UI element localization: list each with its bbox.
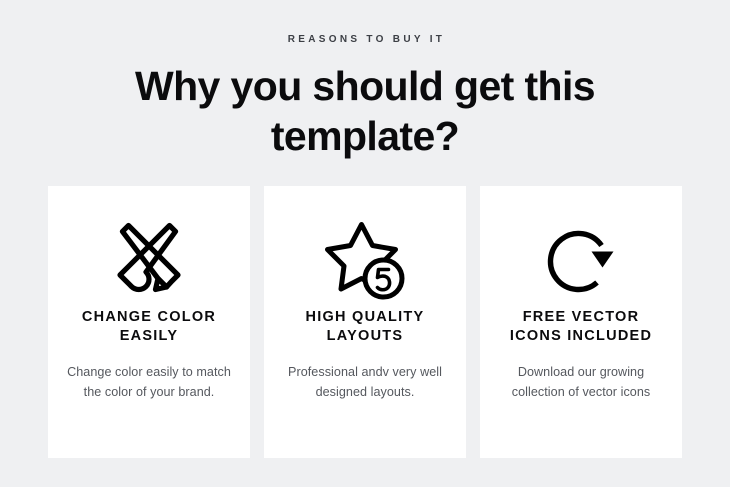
circular-refresh-arrow-icon xyxy=(539,212,623,308)
feature-card-body: Download our growing collection of vecto… xyxy=(496,346,666,402)
feature-card-change-color[interactable]: CHANGE COLOR EASILY Change color easily … xyxy=(48,186,250,458)
feature-card-title: CHANGE COLOR EASILY xyxy=(64,308,234,346)
section-eyebrow: REASONS TO BUY IT xyxy=(0,33,730,47)
star-rating-five-badge-icon xyxy=(323,212,407,308)
feature-card-free-icons[interactable]: FREE VECTOR ICONS INCLUDED Download our … xyxy=(480,186,682,458)
feature-card-body: Professional andv very well designed lay… xyxy=(280,346,450,402)
feature-card-list: CHANGE COLOR EASILY Change color easily … xyxy=(48,186,682,458)
pencil-paintbrush-cross-icon xyxy=(108,212,190,308)
section-header: REASONS TO BUY IT Why you should get thi… xyxy=(0,0,730,161)
feature-card-body: Change color easily to match the color o… xyxy=(64,346,234,402)
feature-card-title: FREE VECTOR ICONS INCLUDED xyxy=(496,308,666,346)
feature-card-high-quality[interactable]: HIGH QUALITY LAYOUTS Professional andv v… xyxy=(264,186,466,458)
page-title: Why you should get this template? xyxy=(130,47,600,161)
landing-section: REASONS TO BUY IT Why you should get thi… xyxy=(0,0,730,487)
feature-card-title: HIGH QUALITY LAYOUTS xyxy=(280,308,450,346)
